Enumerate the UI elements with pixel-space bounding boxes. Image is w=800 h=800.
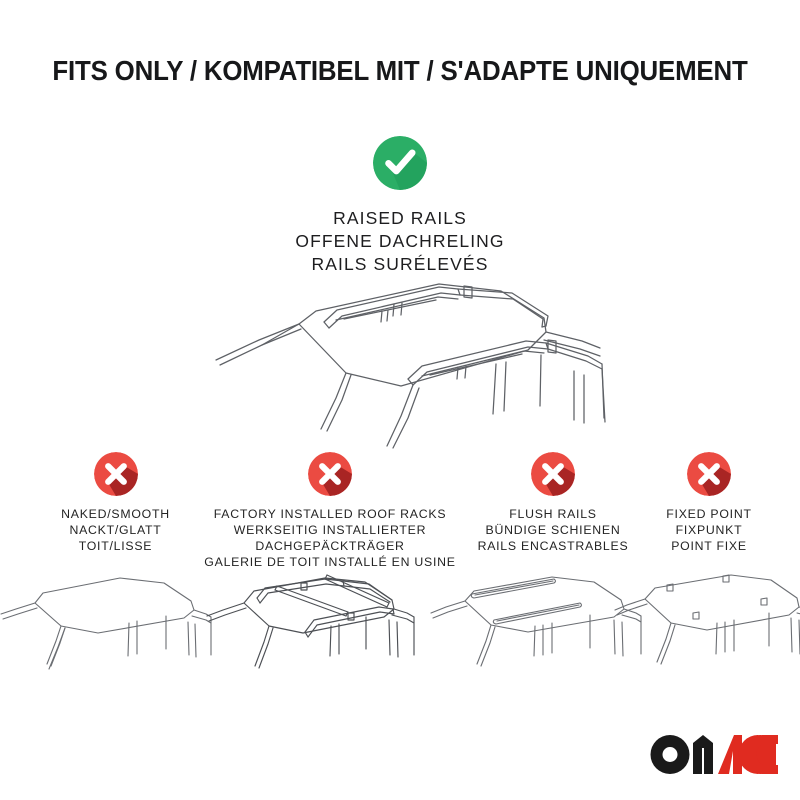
incompatible-label-fr: TOIT/LISSE bbox=[61, 539, 170, 555]
incompatible-item-naked-smooth: NAKED/SMOOTH NACKT/GLATT TOIT/LISSE bbox=[19, 452, 212, 555]
incompatible-illustrations bbox=[0, 556, 800, 706]
compatible-label-fr: RAILS SURÉLEVÉS bbox=[295, 253, 504, 276]
fixed-points-illustration bbox=[613, 556, 800, 706]
incompatible-label-en: FIXED POINT bbox=[666, 507, 751, 523]
incompatible-item-factory-roof-racks: FACTORY INSTALLED ROOF RACKS WERKSEITIG … bbox=[207, 452, 453, 571]
incompatible-label-de-1: WERKSEITIG INSTALLIERTER bbox=[204, 523, 455, 539]
incompatible-item-flush-rails: FLUSH RAILS BÜNDIGE SCHIENEN RAILS ENCAS… bbox=[452, 452, 654, 555]
incompatible-label-en: NAKED/SMOOTH bbox=[61, 507, 170, 523]
incompatible-labels: FLUSH RAILS BÜNDIGE SCHIENEN RAILS ENCAS… bbox=[478, 507, 629, 555]
check-circle-icon bbox=[373, 136, 427, 190]
compatible-labels: RAISED RAILS OFFENE DACHRELING RAILS SUR… bbox=[295, 207, 504, 276]
flush-rails-illustration bbox=[428, 556, 642, 706]
x-circle-icon bbox=[531, 452, 575, 496]
factory-roof-racks-illustration bbox=[201, 556, 415, 706]
logo-letter-o bbox=[651, 735, 690, 774]
naked-smooth-roof-illustration bbox=[0, 556, 212, 706]
raised-rails-roof-illustration bbox=[196, 278, 616, 463]
logo-letter-m bbox=[693, 735, 713, 774]
x-circle-icon bbox=[94, 452, 138, 496]
incompatible-labels: NAKED/SMOOTH NACKT/GLATT TOIT/LISSE bbox=[61, 507, 170, 555]
incompatible-label-fr: RAILS ENCASTRABLES bbox=[478, 539, 629, 555]
x-circle-icon bbox=[687, 452, 731, 496]
logo-letter-a bbox=[718, 735, 742, 774]
incompatible-label-de: BÜNDIGE SCHIENEN bbox=[478, 523, 629, 539]
incompatible-section: NAKED/SMOOTH NACKT/GLATT TOIT/LISSE FACT… bbox=[0, 452, 800, 562]
incompatible-label-de: FIXPUNKT bbox=[666, 523, 751, 539]
incompatible-label-de-2: DACHGEPÄCKTRÄGER bbox=[204, 539, 455, 555]
incompatible-label-fr: POINT FIXE bbox=[666, 539, 751, 555]
omac-logo bbox=[650, 733, 778, 780]
compatible-section: RAISED RAILS OFFENE DACHRELING RAILS SUR… bbox=[0, 136, 800, 276]
logo-letter-c bbox=[739, 735, 779, 774]
incompatible-label-de: NACKT/GLATT bbox=[61, 523, 170, 539]
incompatible-labels: FIXED POINT FIXPUNKT POINT FIXE bbox=[666, 507, 751, 555]
incompatible-item-fixed-point: FIXED POINT FIXPUNKT POINT FIXE bbox=[645, 452, 773, 555]
page-title: FITS ONLY / KOMPATIBEL MIT / S'ADAPTE UN… bbox=[24, 55, 776, 87]
compatible-label-en: RAISED RAILS bbox=[295, 207, 504, 230]
incompatible-label-en: FACTORY INSTALLED ROOF RACKS bbox=[204, 507, 455, 523]
compatible-label-de: OFFENE DACHRELING bbox=[295, 230, 504, 253]
incompatible-label-en: FLUSH RAILS bbox=[478, 507, 629, 523]
x-circle-icon bbox=[308, 452, 352, 496]
